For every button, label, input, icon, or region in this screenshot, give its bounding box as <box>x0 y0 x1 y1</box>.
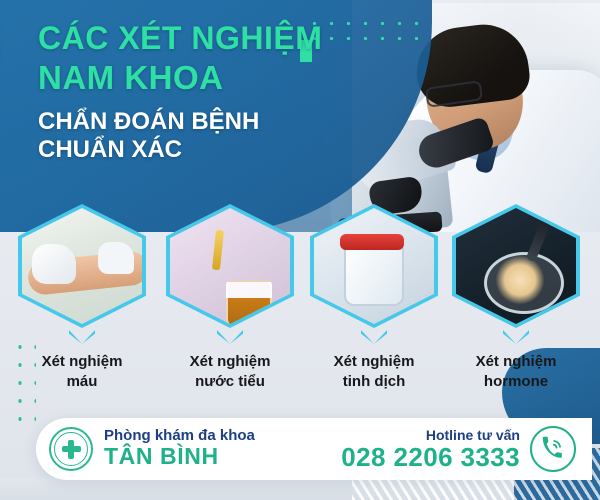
hotline-number[interactable]: 028 2206 3333 <box>341 443 520 472</box>
service-thumbnail-urine[interactable] <box>166 204 294 328</box>
chevron-down-icon <box>361 330 387 344</box>
service-thumbnail-hormone[interactable] <box>452 204 580 328</box>
service-label-line-1: Xét nghiệm <box>12 352 152 372</box>
service-label-row: Xét nghiệm máu Xét nghiệm nước tiểu Xét … <box>0 352 600 408</box>
service-label-line-2: hormone <box>446 372 586 392</box>
hotline-label: Hotline tư vấn <box>341 427 520 443</box>
clinic-prefix: Phòng khám đa khoa <box>104 428 255 445</box>
headline-line-2: NAM KHOA <box>38 61 338 95</box>
headline-block: CÁC XÉT NGHIỆM NAM KHOA CHẨN ĐOÁN BỆNH C… <box>38 22 338 164</box>
service-label-line-2: tinh dịch <box>304 372 444 392</box>
service-label-line-1: Xét nghiệm <box>446 352 586 372</box>
subheadline-line-2: CHUẨN XÁC <box>38 136 338 164</box>
chevron-down-icon <box>503 330 529 344</box>
service-label-blood: Xét nghiệm máu <box>12 352 152 392</box>
service-label-line-2: nước tiểu <box>160 372 300 392</box>
service-label-line-1: Xét nghiệm <box>304 352 444 372</box>
hotline-block[interactable]: Hotline tư vấn 028 2206 3333 <box>341 426 592 472</box>
chevron-down-icon <box>69 330 95 344</box>
service-thumbnail-blood[interactable] <box>18 204 146 328</box>
hotline-text: Hotline tư vấn 028 2206 3333 <box>341 427 520 472</box>
clinic-ad-banner: CÁC XÉT NGHIỆM NAM KHOA CHẨN ĐOÁN BỆNH C… <box>0 0 600 500</box>
service-label-line-1: Xét nghiệm <box>160 352 300 372</box>
chevron-down-icon <box>217 330 243 344</box>
service-label-semen: Xét nghiệm tinh dịch <box>304 352 444 392</box>
medical-cross-icon <box>62 440 81 459</box>
clinic-text: Phòng khám đa khoa TÂN BÌNH <box>104 428 255 470</box>
service-label-urine: Xét nghiệm nước tiểu <box>160 352 300 392</box>
service-thumbnail-semen[interactable] <box>310 204 438 328</box>
clinic-name: TÂN BÌNH <box>104 444 255 470</box>
medical-cross-seal-logo-icon <box>49 427 93 471</box>
clinic-identity[interactable]: Phòng khám đa khoa TÂN BÌNH <box>36 427 255 471</box>
phone-ringing-icon[interactable] <box>530 426 576 472</box>
subheadline-line-1: CHẨN ĐOÁN BỆNH <box>38 108 338 136</box>
service-thumbnail-row <box>0 204 600 332</box>
service-label-line-2: máu <box>12 372 152 392</box>
headline-line-1: CÁC XÉT NGHIỆM <box>38 22 338 55</box>
footer-card: Phòng khám đa khoa TÂN BÌNH Hotline tư v… <box>36 418 592 480</box>
service-label-hormone: Xét nghiệm hormone <box>446 352 586 392</box>
